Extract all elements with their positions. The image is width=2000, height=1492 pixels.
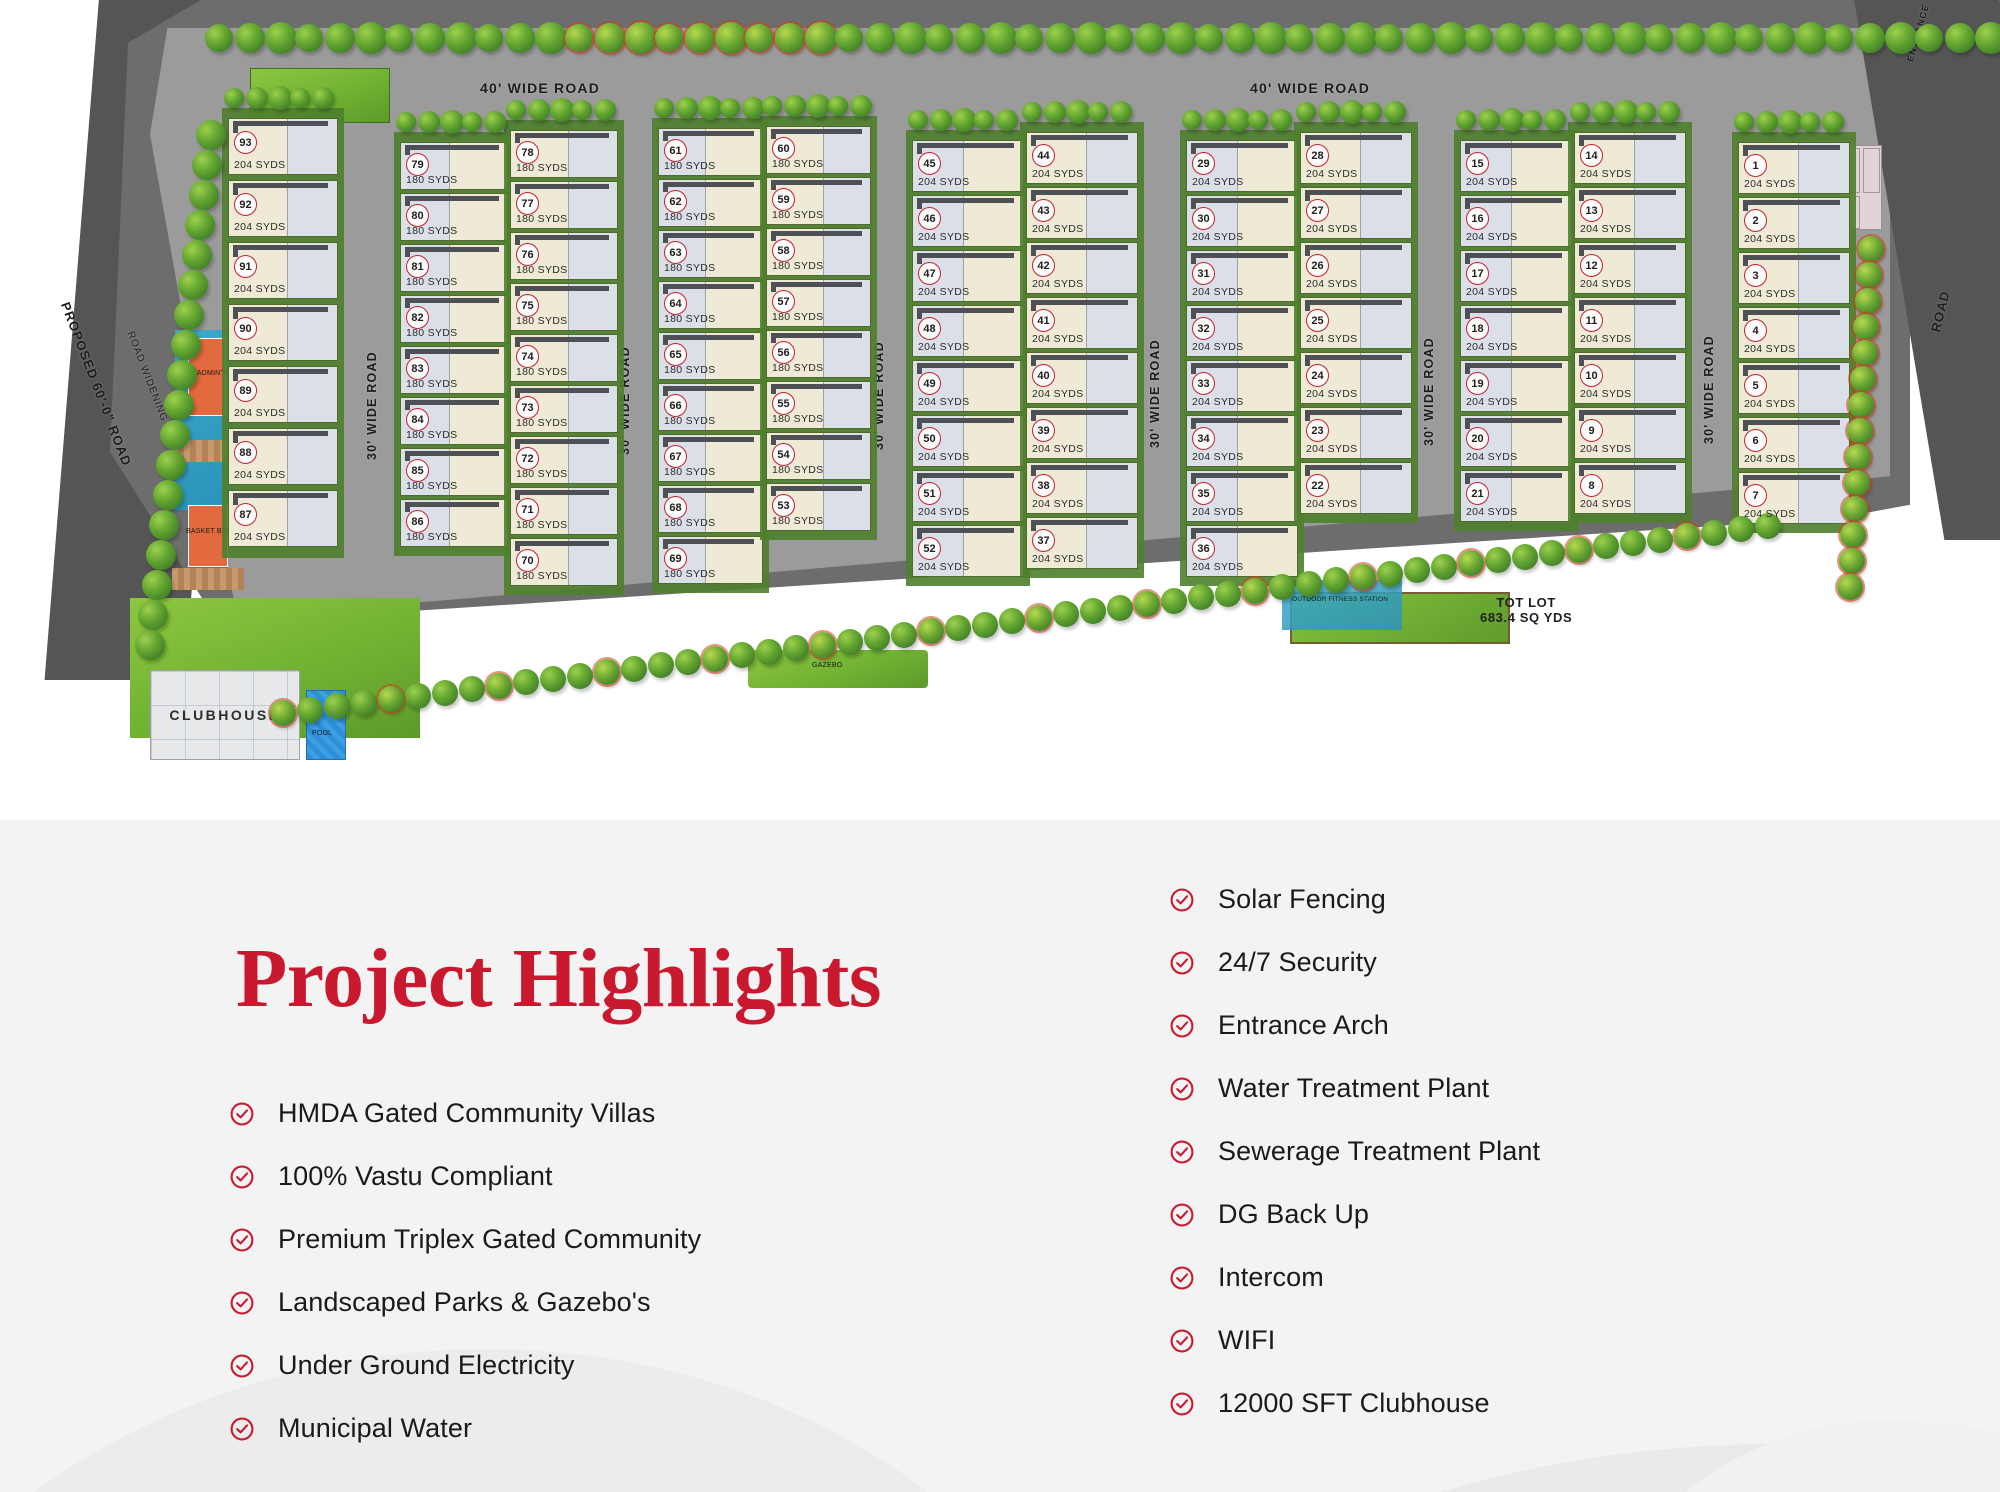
plot-area-label: 204 SYDS	[1466, 176, 1517, 188]
plot[interactable]: 21204 SYDS	[1460, 470, 1572, 522]
gazebo-label: GAZEBO	[812, 662, 842, 669]
plot[interactable]: 85180 SYDS	[400, 448, 508, 496]
flowering-tree-icon	[1674, 523, 1700, 549]
plot-number-badge: 24	[1306, 364, 1329, 387]
plot-number-badge: 34	[1192, 427, 1215, 450]
plot-area-label: 204 SYDS	[1192, 451, 1243, 463]
plot[interactable]: 88204 SYDS	[228, 428, 338, 485]
plot-area-label: 204 SYDS	[1744, 288, 1795, 300]
tree-icon	[153, 480, 183, 510]
plot-area-label: 180 SYDS	[406, 327, 457, 339]
plot-area-label: 204 SYDS	[1032, 278, 1083, 290]
plot-number-badge: 45	[918, 152, 941, 175]
plot[interactable]: 73180 SYDS	[510, 385, 618, 433]
tree-icon	[1404, 557, 1430, 583]
plot-number-badge: 2	[1744, 209, 1767, 232]
tree-icon	[149, 510, 179, 540]
plot-area-label: 204 SYDS	[234, 345, 285, 357]
plot[interactable]: 4204 SYDS	[1738, 307, 1850, 359]
plot-number-badge: 67	[664, 445, 687, 468]
plot-area-label: 204 SYDS	[1032, 553, 1083, 565]
plot[interactable]: 12204 SYDS	[1574, 242, 1686, 294]
tree-icon	[1080, 598, 1106, 624]
plot[interactable]: 20204 SYDS	[1460, 415, 1572, 467]
tree-icon	[972, 612, 998, 638]
flowering-tree-icon	[1134, 591, 1160, 617]
plot-area-label: 180 SYDS	[664, 466, 715, 478]
tree-icon	[999, 608, 1025, 634]
plot[interactable]: 64180 SYDS	[658, 281, 763, 329]
plot-number-badge: 15	[1466, 152, 1489, 175]
plot[interactable]: 28204 SYDS	[1300, 132, 1412, 184]
plot[interactable]: 46204 SYDS	[912, 195, 1024, 247]
plot-area-label: 204 SYDS	[1580, 278, 1631, 290]
plot[interactable]: 41204 SYDS	[1026, 297, 1138, 349]
plot-number-badge: 19	[1466, 372, 1489, 395]
highlight-label: 12000 SFT Clubhouse	[1218, 1388, 1490, 1419]
plot[interactable]: 78180 SYDS	[510, 130, 618, 178]
plot-area-label: 204 SYDS	[1744, 508, 1795, 520]
plot-area-label: 180 SYDS	[406, 378, 457, 390]
plot[interactable]: 92204 SYDS	[228, 180, 338, 237]
highlight-item: Water Treatment Plant	[1168, 1057, 1888, 1120]
highlight-label: 100% Vastu Compliant	[278, 1161, 553, 1192]
plot-number-badge: 85	[406, 459, 429, 482]
plot[interactable]: 84180 SYDS	[400, 397, 508, 445]
check-circle-icon	[228, 1226, 256, 1254]
plot[interactable]: 44204 SYDS	[1026, 132, 1138, 184]
plot-area-label: 204 SYDS	[1032, 223, 1083, 235]
plot-number-badge: 10	[1580, 364, 1603, 387]
plot[interactable]: 19204 SYDS	[1460, 360, 1572, 412]
plot-area-label: 180 SYDS	[406, 429, 457, 441]
plot[interactable]: 68180 SYDS	[658, 485, 763, 533]
plot[interactable]: 27204 SYDS	[1300, 187, 1412, 239]
highlight-label: Water Treatment Plant	[1218, 1073, 1489, 1104]
flowering-tree-icon	[1853, 314, 1879, 340]
check-circle-icon	[1168, 949, 1196, 977]
check-circle-icon	[228, 1100, 256, 1128]
plot-number-badge: 11	[1580, 309, 1603, 332]
plot-number-badge: 68	[664, 496, 687, 519]
highlight-item: Solar Fencing	[1168, 868, 1888, 931]
tree-icon	[1701, 520, 1727, 546]
tree-icon	[837, 629, 863, 655]
plot-number-badge: 60	[772, 137, 795, 160]
master-plan-map: 40' WIDE ROAD 40' WIDE ROAD PROPOSED 60'…	[0, 0, 2000, 820]
highlight-item: Landscaped Parks & Gazebo's	[228, 1271, 928, 1334]
plot[interactable]: 76180 SYDS	[510, 232, 618, 280]
highlight-label: Premium Triplex Gated Community	[278, 1224, 701, 1255]
plot-area-label: 180 SYDS	[516, 213, 567, 225]
plot-number-badge: 70	[516, 549, 539, 572]
plot-area-label: 204 SYDS	[1306, 168, 1357, 180]
plot-number-badge: 43	[1032, 199, 1055, 222]
plot-number-badge: 40	[1032, 364, 1055, 387]
plot-area-label: 204 SYDS	[1192, 286, 1243, 298]
plot-number-badge: 72	[516, 447, 539, 470]
plot-area-label: 180 SYDS	[772, 464, 823, 476]
plot[interactable]: 39204 SYDS	[1026, 407, 1138, 459]
plot[interactable]: 87204 SYDS	[228, 490, 338, 547]
plot[interactable]: 30204 SYDS	[1186, 195, 1298, 247]
plot-number-badge: 57	[772, 290, 795, 313]
plot[interactable]: 71180 SYDS	[510, 487, 618, 535]
plot[interactable]: 69180 SYDS	[658, 536, 763, 584]
check-circle-icon	[1168, 1201, 1196, 1229]
plot-area-label: 180 SYDS	[664, 517, 715, 529]
plot[interactable]: 80180 SYDS	[400, 193, 508, 241]
tree-icon	[1539, 540, 1565, 566]
plot[interactable]: 91204 SYDS	[228, 242, 338, 299]
plot-number-badge: 52	[918, 537, 941, 560]
plot[interactable]: 43204 SYDS	[1026, 187, 1138, 239]
plot-area-label: 204 SYDS	[1580, 333, 1631, 345]
plot-number-badge: 76	[516, 243, 539, 266]
plot[interactable]: 23204 SYDS	[1300, 407, 1412, 459]
plot-number-badge: 54	[772, 443, 795, 466]
highlight-item: DG Back Up	[1168, 1183, 1888, 1246]
plot[interactable]: 32204 SYDS	[1186, 305, 1298, 357]
plot[interactable]: 48204 SYDS	[912, 305, 1024, 357]
plot-area-label: 204 SYDS	[1466, 286, 1517, 298]
highlight-item: 24/7 Security	[1168, 931, 1888, 994]
plot-area-label: 204 SYDS	[1306, 223, 1357, 235]
tree-icon	[297, 697, 323, 723]
plot[interactable]: 24204 SYDS	[1300, 352, 1412, 404]
plot-number-badge: 22	[1306, 474, 1329, 497]
plot[interactable]: 70180 SYDS	[510, 538, 618, 586]
plot-area-label: 204 SYDS	[1192, 396, 1243, 408]
plot-area-label: 204 SYDS	[1306, 388, 1357, 400]
plot-number-badge: 7	[1744, 484, 1767, 507]
plot[interactable]: 67180 SYDS	[658, 434, 763, 482]
plot-number-badge: 89	[234, 379, 257, 402]
tree-icon	[567, 663, 593, 689]
plot-number-badge: 6	[1744, 429, 1767, 452]
plot-number-badge: 63	[664, 241, 687, 264]
tot-lot-label: TOT LOT 683.4 SQ YDS	[1480, 596, 1572, 626]
plot-number-badge: 13	[1580, 199, 1603, 222]
plot[interactable]: 90204 SYDS	[228, 304, 338, 361]
plot-number-badge: 18	[1466, 317, 1489, 340]
check-circle-icon	[1168, 1327, 1196, 1355]
plot-area-label: 204 SYDS	[1580, 498, 1631, 510]
plot[interactable]: 63180 SYDS	[658, 230, 763, 278]
plot[interactable]: 34204 SYDS	[1186, 415, 1298, 467]
plot[interactable]: 6204 SYDS	[1738, 417, 1850, 469]
tree-icon	[756, 639, 782, 665]
plot-number-badge: 41	[1032, 309, 1055, 332]
project-highlights-section: Master Plan Project Highlights HMDA Gate…	[0, 820, 2000, 1492]
plot-area-label: 204 SYDS	[918, 341, 969, 353]
check-circle-icon	[228, 1415, 256, 1443]
plot-number-badge: 35	[1192, 482, 1215, 505]
plot[interactable]: 60180 SYDS	[766, 126, 871, 174]
plot[interactable]: 15204 SYDS	[1460, 140, 1572, 192]
plot-number-badge: 33	[1192, 372, 1215, 395]
tree-icon	[729, 642, 755, 668]
plot[interactable]: 10204 SYDS	[1574, 352, 1686, 404]
plot[interactable]: 29204 SYDS	[1186, 140, 1298, 192]
tree-icon	[160, 420, 190, 450]
plot-area-label: 204 SYDS	[918, 396, 969, 408]
flowering-tree-icon	[1242, 578, 1268, 604]
check-circle-icon	[228, 1163, 256, 1191]
plot-number-badge: 46	[918, 207, 941, 230]
plot[interactable]: 51204 SYDS	[912, 470, 1024, 522]
plot[interactable]: 61180 SYDS	[658, 128, 763, 176]
flowering-tree-icon	[1855, 288, 1881, 314]
plot[interactable]: 26204 SYDS	[1300, 242, 1412, 294]
plot-area-label: 180 SYDS	[772, 311, 823, 323]
plot-area-label: 204 SYDS	[1744, 453, 1795, 465]
tree-icon	[459, 676, 485, 702]
plot-area-label: 180 SYDS	[772, 515, 823, 527]
plot[interactable]: 83180 SYDS	[400, 346, 508, 394]
plot-area-label: 180 SYDS	[664, 160, 715, 172]
plot-area-label: 204 SYDS	[918, 176, 969, 188]
plot[interactable]: 47204 SYDS	[912, 250, 1024, 302]
flowering-tree-icon	[270, 700, 296, 726]
plot-area-label: 204 SYDS	[234, 407, 285, 419]
plot-area-label: 180 SYDS	[516, 315, 567, 327]
plot-area-label: 204 SYDS	[1032, 333, 1083, 345]
highlight-item: Under Ground Electricity	[228, 1334, 928, 1397]
plot-area-label: 204 SYDS	[1032, 443, 1083, 455]
plot-area-label: 204 SYDS	[234, 221, 285, 233]
tree-icon	[1377, 561, 1403, 587]
plot[interactable]: 79180 SYDS	[400, 142, 508, 190]
highlight-item: Municipal Water	[228, 1397, 928, 1460]
flowering-tree-icon	[1845, 444, 1871, 470]
plot[interactable]: 89204 SYDS	[228, 366, 338, 423]
plot-area-label: 204 SYDS	[918, 561, 969, 573]
plot[interactable]: 49204 SYDS	[912, 360, 1024, 412]
plot-area-label: 180 SYDS	[664, 262, 715, 274]
plot-area-label: 204 SYDS	[1192, 341, 1243, 353]
outdoor-fitness-label: OUTDOOR FITNESS STATION	[1292, 596, 1388, 603]
plot-area-label: 180 SYDS	[406, 225, 457, 237]
plot[interactable]: 36204 SYDS	[1186, 525, 1298, 577]
road-label-30ft-5: 30' WIDE ROAD	[1422, 337, 1436, 446]
plot-area-label: 204 SYDS	[918, 286, 969, 298]
plot[interactable]: 8204 SYDS	[1574, 462, 1686, 514]
plot[interactable]: 42204 SYDS	[1026, 242, 1138, 294]
plot[interactable]: 17204 SYDS	[1460, 250, 1572, 302]
plot[interactable]: 3204 SYDS	[1738, 252, 1850, 304]
highlight-item: 12000 SFT Clubhouse	[1168, 1372, 1888, 1435]
plot-area-label: 180 SYDS	[664, 415, 715, 427]
plot[interactable]: 66180 SYDS	[658, 383, 763, 431]
tree-icon	[1647, 527, 1673, 553]
flowering-tree-icon	[1566, 537, 1592, 563]
highlight-label: Sewerage Treatment Plant	[1218, 1136, 1540, 1167]
tree-icon	[432, 680, 458, 706]
tree-icon	[1107, 595, 1133, 621]
plot[interactable]: 18204 SYDS	[1460, 305, 1572, 357]
plot-number-badge: 29	[1192, 152, 1215, 175]
plot-area-label: 180 SYDS	[406, 174, 457, 186]
plot[interactable]: 57180 SYDS	[766, 279, 871, 327]
plot[interactable]: 38204 SYDS	[1026, 462, 1138, 514]
tree-icon	[1431, 554, 1457, 580]
plot-number-badge: 64	[664, 292, 687, 315]
plot-area-label: 204 SYDS	[1580, 388, 1631, 400]
plot[interactable]: 33204 SYDS	[1186, 360, 1298, 412]
road-label-30ft-6: 30' WIDE ROAD	[1702, 335, 1716, 444]
tot-lot-label-line1: TOT LOT	[1496, 595, 1556, 610]
plot[interactable]: 54180 SYDS	[766, 432, 871, 480]
plot-area-label: 204 SYDS	[918, 451, 969, 463]
highlight-label: 24/7 Security	[1218, 947, 1377, 978]
plot[interactable]: 9204 SYDS	[1574, 407, 1686, 459]
highlight-label: Intercom	[1218, 1262, 1324, 1293]
plot-area-label: 204 SYDS	[1032, 498, 1083, 510]
plot[interactable]: 14204 SYDS	[1574, 132, 1686, 184]
plot-number-badge: 36	[1192, 537, 1215, 560]
plot-number-badge: 82	[406, 306, 429, 329]
plot-number-badge: 90	[234, 317, 257, 340]
plot-number-badge: 62	[664, 190, 687, 213]
check-circle-icon	[1168, 1012, 1196, 1040]
plot-area-label: 180 SYDS	[772, 413, 823, 425]
tree-icon	[1296, 571, 1322, 597]
highlight-label: Under Ground Electricity	[278, 1350, 575, 1381]
plot-area-label: 204 SYDS	[1466, 341, 1517, 353]
plot[interactable]: 75180 SYDS	[510, 283, 618, 331]
highlight-item: Entrance Arch	[1168, 994, 1888, 1057]
plot[interactable]: 58180 SYDS	[766, 228, 871, 276]
plot-area-label: 204 SYDS	[1744, 398, 1795, 410]
plot[interactable]: 45204 SYDS	[912, 140, 1024, 192]
plot-number-badge: 51	[918, 482, 941, 505]
tree-icon	[351, 690, 377, 716]
plot[interactable]: 50204 SYDS	[912, 415, 1024, 467]
plot[interactable]: 74180 SYDS	[510, 334, 618, 382]
plot-area-label: 180 SYDS	[516, 264, 567, 276]
plot-area-label: 180 SYDS	[516, 570, 567, 582]
plot[interactable]: 1204 SYDS	[1738, 142, 1850, 194]
plot[interactable]: 93204 SYDS	[228, 118, 338, 175]
check-circle-icon	[1168, 1138, 1196, 1166]
plot-area-label: 180 SYDS	[664, 313, 715, 325]
plot[interactable]: 16204 SYDS	[1460, 195, 1572, 247]
plot-number-badge: 81	[406, 255, 429, 278]
plot-area-label: 204 SYDS	[1032, 168, 1083, 180]
tree-icon	[185, 210, 215, 240]
plot-area-label: 180 SYDS	[664, 211, 715, 223]
plot[interactable]: 77180 SYDS	[510, 181, 618, 229]
plot[interactable]: 35204 SYDS	[1186, 470, 1298, 522]
plot-area-label: 180 SYDS	[516, 417, 567, 429]
plot-number-badge: 71	[516, 498, 539, 521]
plot[interactable]: 11204 SYDS	[1574, 297, 1686, 349]
highlights-column-right: Solar Fencing24/7 SecurityEntrance ArchW…	[1168, 868, 1888, 1435]
plot-area-label: 204 SYDS	[1580, 443, 1631, 455]
plot-area-label: 204 SYDS	[1466, 451, 1517, 463]
plot[interactable]: 72180 SYDS	[510, 436, 618, 484]
plot-number-badge: 16	[1466, 207, 1489, 230]
plot[interactable]: 37204 SYDS	[1026, 517, 1138, 569]
plot[interactable]: 40204 SYDS	[1026, 352, 1138, 404]
highlights-column-left: HMDA Gated Community Villas100% Vastu Co…	[228, 1082, 928, 1460]
plot-number-badge: 28	[1306, 144, 1329, 167]
plot-area-label: 180 SYDS	[772, 209, 823, 221]
plot-number-badge: 87	[234, 503, 257, 526]
plot-number-badge: 17	[1466, 262, 1489, 285]
highlight-item: Sewerage Treatment Plant	[1168, 1120, 1888, 1183]
highlight-label: HMDA Gated Community Villas	[278, 1098, 655, 1129]
plot-number-badge: 49	[918, 372, 941, 395]
flowering-tree-icon	[486, 673, 512, 699]
plot-area-label: 204 SYDS	[1192, 231, 1243, 243]
tree-icon	[196, 120, 226, 150]
west-deck-2	[172, 568, 244, 590]
plot-area-label: 204 SYDS	[1306, 498, 1357, 510]
plot[interactable]: 59180 SYDS	[766, 177, 871, 225]
plot-number-badge: 61	[664, 139, 687, 162]
plot[interactable]: 82180 SYDS	[400, 295, 508, 343]
plot[interactable]: 2204 SYDS	[1738, 197, 1850, 249]
plot[interactable]: 81180 SYDS	[400, 244, 508, 292]
tree-icon	[1215, 581, 1241, 607]
plot[interactable]: 7204 SYDS	[1738, 472, 1850, 524]
plot-number-badge: 39	[1032, 419, 1055, 442]
flowering-tree-icon	[1850, 366, 1876, 392]
plot-number-badge: 88	[234, 441, 257, 464]
plot[interactable]: 5204 SYDS	[1738, 362, 1850, 414]
plot-area-label: 204 SYDS	[234, 531, 285, 543]
plot[interactable]: 22204 SYDS	[1300, 462, 1412, 514]
plot[interactable]: 86180 SYDS	[400, 499, 508, 547]
flowering-tree-icon	[1350, 564, 1376, 590]
highlight-label: Solar Fencing	[1218, 884, 1386, 915]
plot-area-label: 204 SYDS	[1032, 388, 1083, 400]
highlight-item: 100% Vastu Compliant	[228, 1145, 928, 1208]
plot[interactable]: 55180 SYDS	[766, 381, 871, 429]
plot[interactable]: 56180 SYDS	[766, 330, 871, 378]
plot-number-badge: 83	[406, 357, 429, 380]
plot[interactable]: 53180 SYDS	[766, 483, 871, 531]
plot-number-badge: 58	[772, 239, 795, 262]
plot-area-label: 180 SYDS	[516, 162, 567, 174]
plot[interactable]: 13204 SYDS	[1574, 187, 1686, 239]
plot[interactable]: 65180 SYDS	[658, 332, 763, 380]
flowering-tree-icon	[1858, 236, 1884, 262]
plot-area-label: 204 SYDS	[234, 469, 285, 481]
plot[interactable]: 52204 SYDS	[912, 525, 1024, 577]
tree-icon	[324, 693, 350, 719]
plot-number-badge: 79	[406, 153, 429, 176]
plot-area-label: 180 SYDS	[772, 362, 823, 374]
plot[interactable]: 31204 SYDS	[1186, 250, 1298, 302]
tree-icon	[1161, 588, 1187, 614]
page-title: Project Highlights	[236, 930, 881, 1027]
plot-area-label: 180 SYDS	[406, 531, 457, 543]
pool-label: POOL	[312, 730, 332, 737]
plot[interactable]: 25204 SYDS	[1300, 297, 1412, 349]
flowering-tree-icon	[810, 632, 836, 658]
flowering-tree-icon	[702, 646, 728, 672]
plot-number-badge: 69	[664, 547, 687, 570]
highlight-label: Municipal Water	[278, 1413, 472, 1444]
plot-number-badge: 20	[1466, 427, 1489, 450]
plot[interactable]: 62180 SYDS	[658, 179, 763, 227]
tree-icon	[182, 240, 212, 270]
plot-number-badge: 77	[516, 192, 539, 215]
plot-number-badge: 32	[1192, 317, 1215, 340]
